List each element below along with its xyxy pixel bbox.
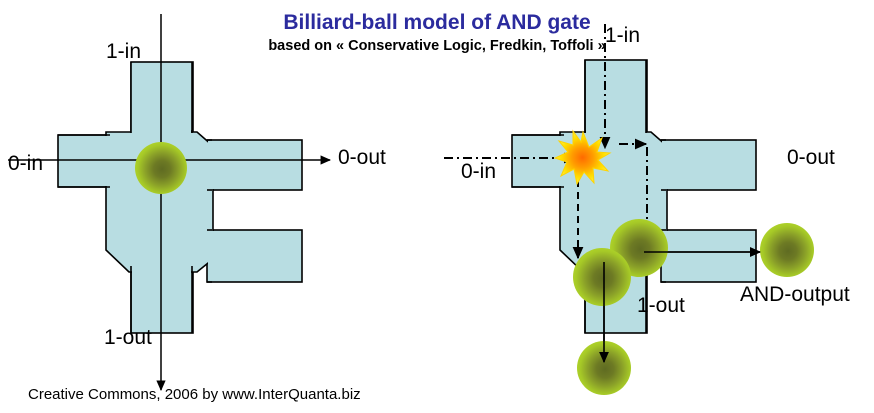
right-ball-lower	[573, 248, 631, 306]
billiard-ball-and-gate-figure	[0, 0, 874, 413]
left-gate-body	[58, 62, 302, 333]
and-output-ball	[760, 223, 814, 277]
left-ball	[135, 142, 187, 194]
diagram-canvas: Billiard-ball model of AND gate based on…	[0, 0, 874, 413]
right-gate-body	[512, 60, 756, 333]
